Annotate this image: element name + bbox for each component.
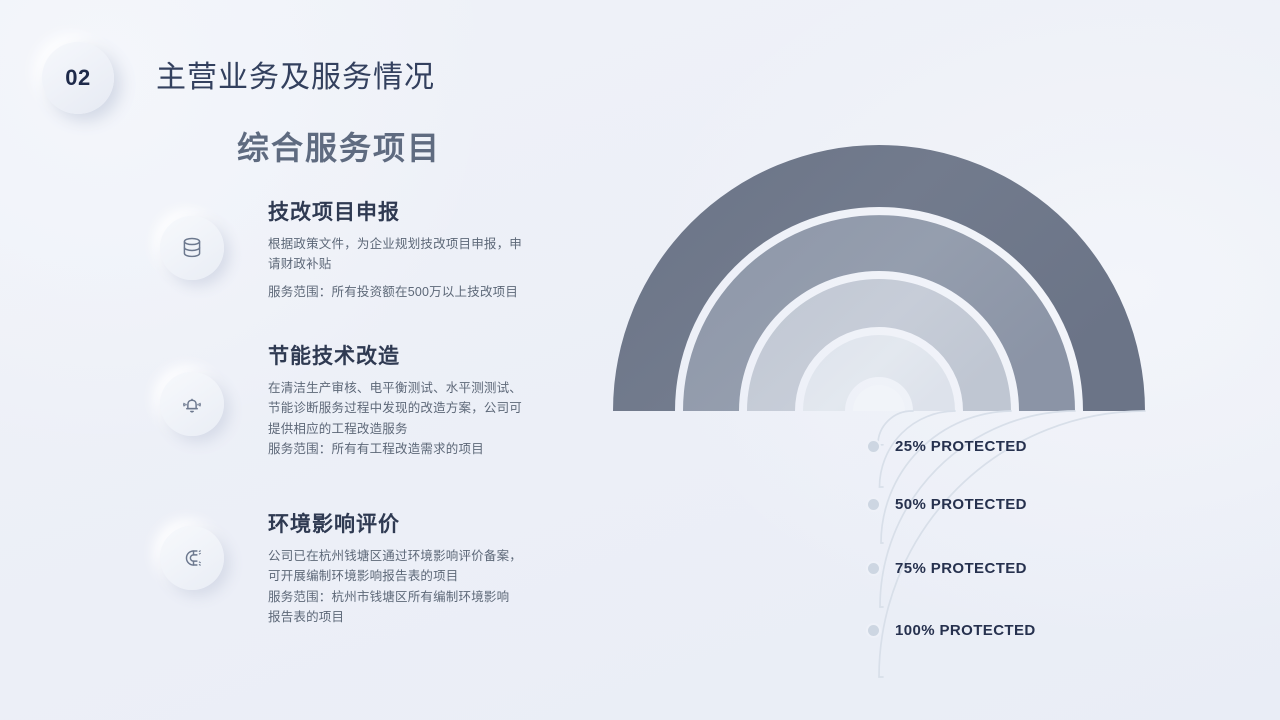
service-item-3-line1: 公司已在杭州钱塘区通过环境影响评价备案， (268, 546, 588, 566)
service-item-3-text: 环境影响评价 公司已在杭州钱塘区通过环境影响评价备案， 可开展编制环境影响报告表… (268, 508, 588, 627)
legend-item-100[interactable]: 100% PROTECTED (868, 622, 1036, 639)
section-heading: 综合服务项目 (237, 123, 441, 169)
gauge-rings (613, 145, 1145, 411)
service-item-2-line1: 在清洁生产审核、电平衡测试、水平测测试、 (268, 378, 588, 398)
legend-dot-icon (868, 625, 879, 636)
gauge-svg (588, 120, 1188, 680)
service-item-1-line3: 服务范围：所有投资额在500万以上技改项目 (268, 282, 588, 302)
concentric-gauge-chart (588, 120, 1188, 680)
service-item-1-line2: 请财政补贴 (268, 254, 588, 274)
section-number-text: 02 (65, 65, 90, 91)
service-item-3-line3: 服务范围：杭州市钱塘区所有编制环境影响 (268, 587, 588, 607)
magnet-icon (160, 526, 224, 590)
gauge-center-dome (853, 385, 905, 411)
service-item-2-line3: 提供相应的工程改造服务 (268, 419, 588, 439)
service-item-1-title: 技改项目申报 (268, 196, 588, 226)
legend-label-25: 25% PROTECTED (895, 438, 1027, 455)
legend-item-25[interactable]: 25% PROTECTED (868, 438, 1027, 455)
database-icon (160, 216, 224, 280)
service-item-3-line2: 可开展编制环境影响报告表的项目 (268, 566, 588, 586)
service-item-2-text: 节能技术改造 在清洁生产审核、电平衡测试、水平测测试、 节能诊断服务过程中发现的… (268, 340, 588, 459)
legend-dot-icon (868, 563, 879, 574)
service-item-1-text: 技改项目申报 根据政策文件，为企业规划技改项目申报，申 请财政补贴 服务范围：所… (268, 196, 588, 302)
bell-ring-icon (160, 372, 224, 436)
service-item-2-line4: 服务范围：所有有工程改造需求的项目 (268, 439, 588, 459)
section-number-badge: 02 (42, 42, 114, 114)
legend-label-75: 75% PROTECTED (895, 560, 1027, 577)
service-item-3-line4: 报告表的项目 (268, 607, 588, 627)
service-item-2-line2: 节能诊断服务过程中发现的改造方案，公司可 (268, 398, 588, 418)
legend-dot-icon (868, 441, 879, 452)
service-item-3-title: 环境影响评价 (268, 508, 588, 538)
legend-label-100: 100% PROTECTED (895, 622, 1036, 639)
service-item-1-line1: 根据政策文件，为企业规划技改项目申报，申 (268, 234, 588, 254)
legend-item-50[interactable]: 50% PROTECTED (868, 496, 1027, 513)
legend-item-75[interactable]: 75% PROTECTED (868, 560, 1027, 577)
service-item-2-title: 节能技术改造 (268, 340, 588, 370)
page-title: 主营业务及服务情况 (156, 52, 435, 96)
legend-dot-icon (868, 499, 879, 510)
legend-label-50: 50% PROTECTED (895, 496, 1027, 513)
slide-canvas: 02 主营业务及服务情况 综合服务项目 技改项目申报 根据政策文件，为企业规划技… (0, 0, 1280, 720)
